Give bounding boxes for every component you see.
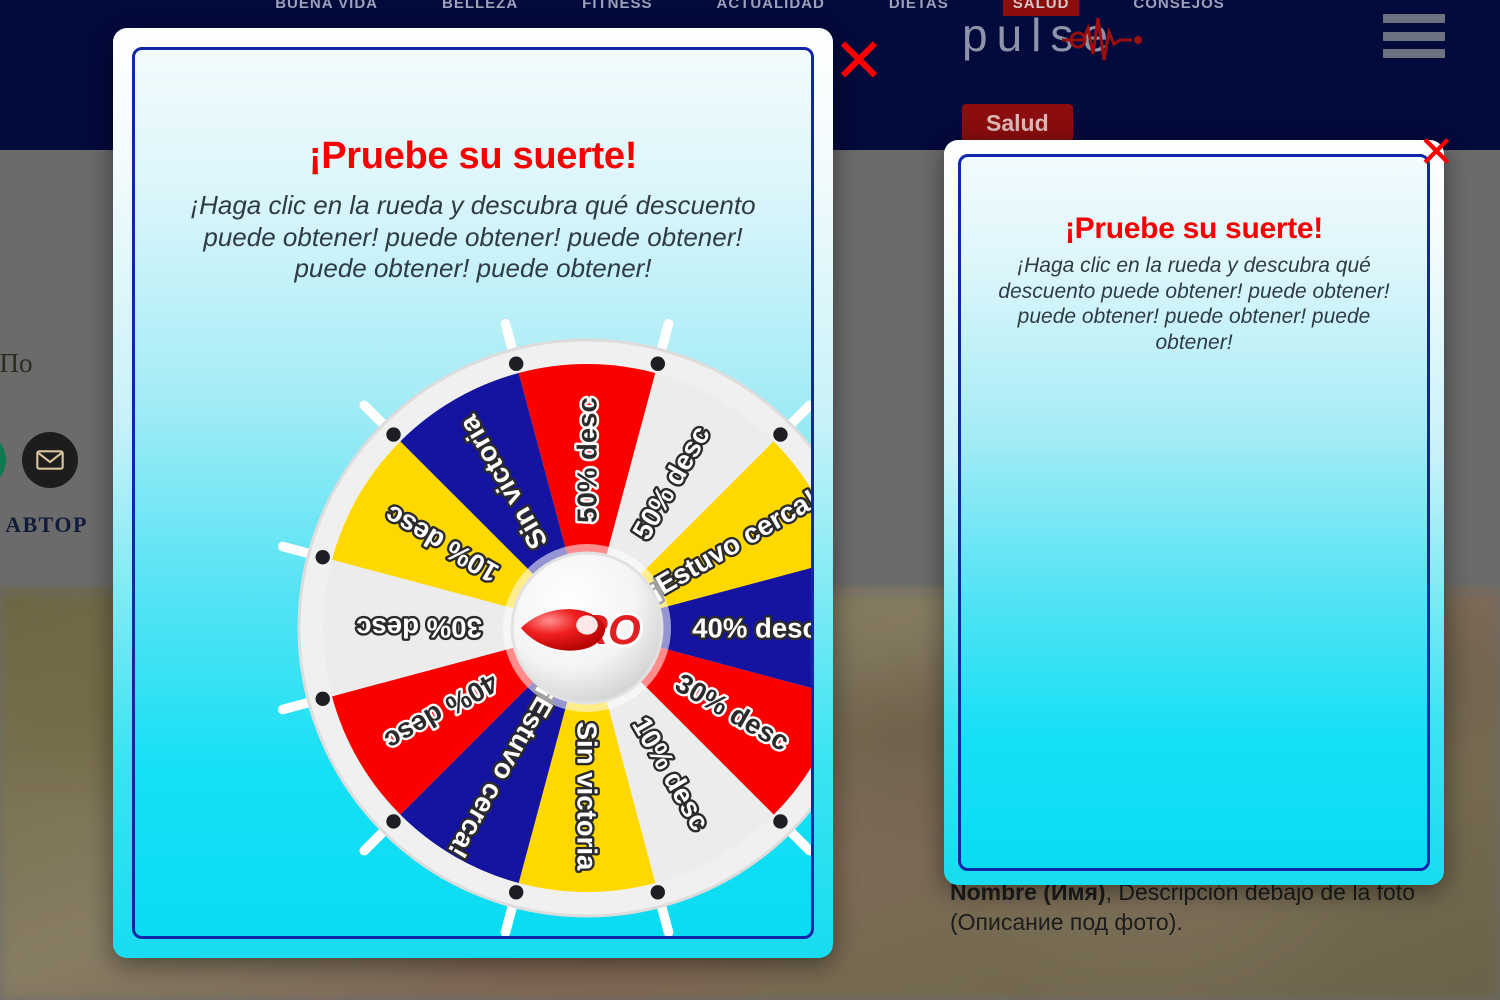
social-share-bar[interactable] [0, 432, 78, 488]
wheel-rim-dot [651, 357, 665, 371]
nav-item-buena-vida[interactable]: BUENA VIDA [265, 0, 388, 16]
wheel-rim-dot [316, 550, 330, 564]
lucky-wheel-modal-primary: ¡Pruebe su suerte! ¡Haga clic en la rued… [113, 28, 833, 958]
wheel-segment-label: Sin victoria [572, 722, 603, 871]
wheel-rim-dot [773, 814, 787, 828]
hamburger-menu-icon[interactable] [1383, 14, 1445, 58]
modal-body-primary: ¡Pruebe su suerte! ¡Haga clic en la rued… [132, 47, 814, 939]
main-navigation[interactable]: BUENA VIDABELLEZAFITNESSACTUALIDADDIETAS… [0, 0, 1500, 14]
subtitle-left-text: тular (По [0, 348, 33, 378]
close-icon[interactable]: ✕ [833, 30, 885, 92]
fortune-wheel-primary[interactable]: 40% desc30% desc10% descSin victoria¡Est… [287, 328, 814, 928]
wheel-spoke-peg [364, 405, 385, 426]
wheel-rim-dot [386, 814, 400, 828]
hamburger-bar [1383, 14, 1445, 23]
modal-subtitle: ¡Haga clic en la rueda y descubra qué de… [989, 253, 1399, 355]
modal-subtitle: ¡Haga clic en la rueda y descubra qué de… [181, 190, 765, 285]
nav-item-fitness[interactable]: FITNESS [572, 0, 662, 16]
wheel-segment-label: 30% desc [356, 613, 482, 644]
wheel-segment-label: 40% desc [692, 613, 814, 644]
hamburger-bar [1383, 32, 1445, 41]
wheel-rim-dot [509, 357, 523, 371]
article-author: ИМЯ АВТОР [0, 512, 88, 538]
photo-caption: Nombre (Имя), Descripción debajo de la f… [950, 878, 1420, 938]
google-plus-icon[interactable] [0, 432, 6, 488]
modal-title: ¡Pruebe su suerte! [961, 212, 1427, 246]
nav-item-dietas[interactable]: DIETAS [879, 0, 959, 16]
wheel-spoke-peg [505, 903, 513, 932]
wheel-rim-dot [386, 427, 400, 441]
wheel-rim-dot [651, 885, 665, 899]
hamburger-bar [1383, 49, 1445, 58]
nav-item-belleza[interactable]: BELLEZA [432, 0, 528, 16]
close-icon[interactable]: ✕ [1418, 131, 1455, 175]
ecg-heartbeat-icon [1060, 14, 1150, 62]
modal-title: ¡Pruebe su suerte! [135, 135, 811, 178]
wheel-svg[interactable]: 40% desc30% desc10% descSin victoria¡Est… [287, 328, 814, 928]
wheel-rim-dot [509, 885, 523, 899]
nav-item-actualidad[interactable]: ACTUALIDAD [707, 0, 835, 16]
mail-icon[interactable] [22, 432, 78, 488]
modal-body-secondary: ¡Pruebe su suerte! ¡Haga clic en la rued… [958, 154, 1430, 871]
wheel-rim-dot [773, 427, 787, 441]
wheel-spoke-peg [661, 903, 669, 932]
category-tag[interactable]: Salud [962, 104, 1073, 143]
wheel-segment-label: 50% desc [572, 397, 603, 523]
lucky-wheel-modal-secondary: ¡Pruebe su suerte! ¡Haga clic en la rued… [944, 140, 1444, 885]
wheel-rim-dot [316, 692, 330, 706]
